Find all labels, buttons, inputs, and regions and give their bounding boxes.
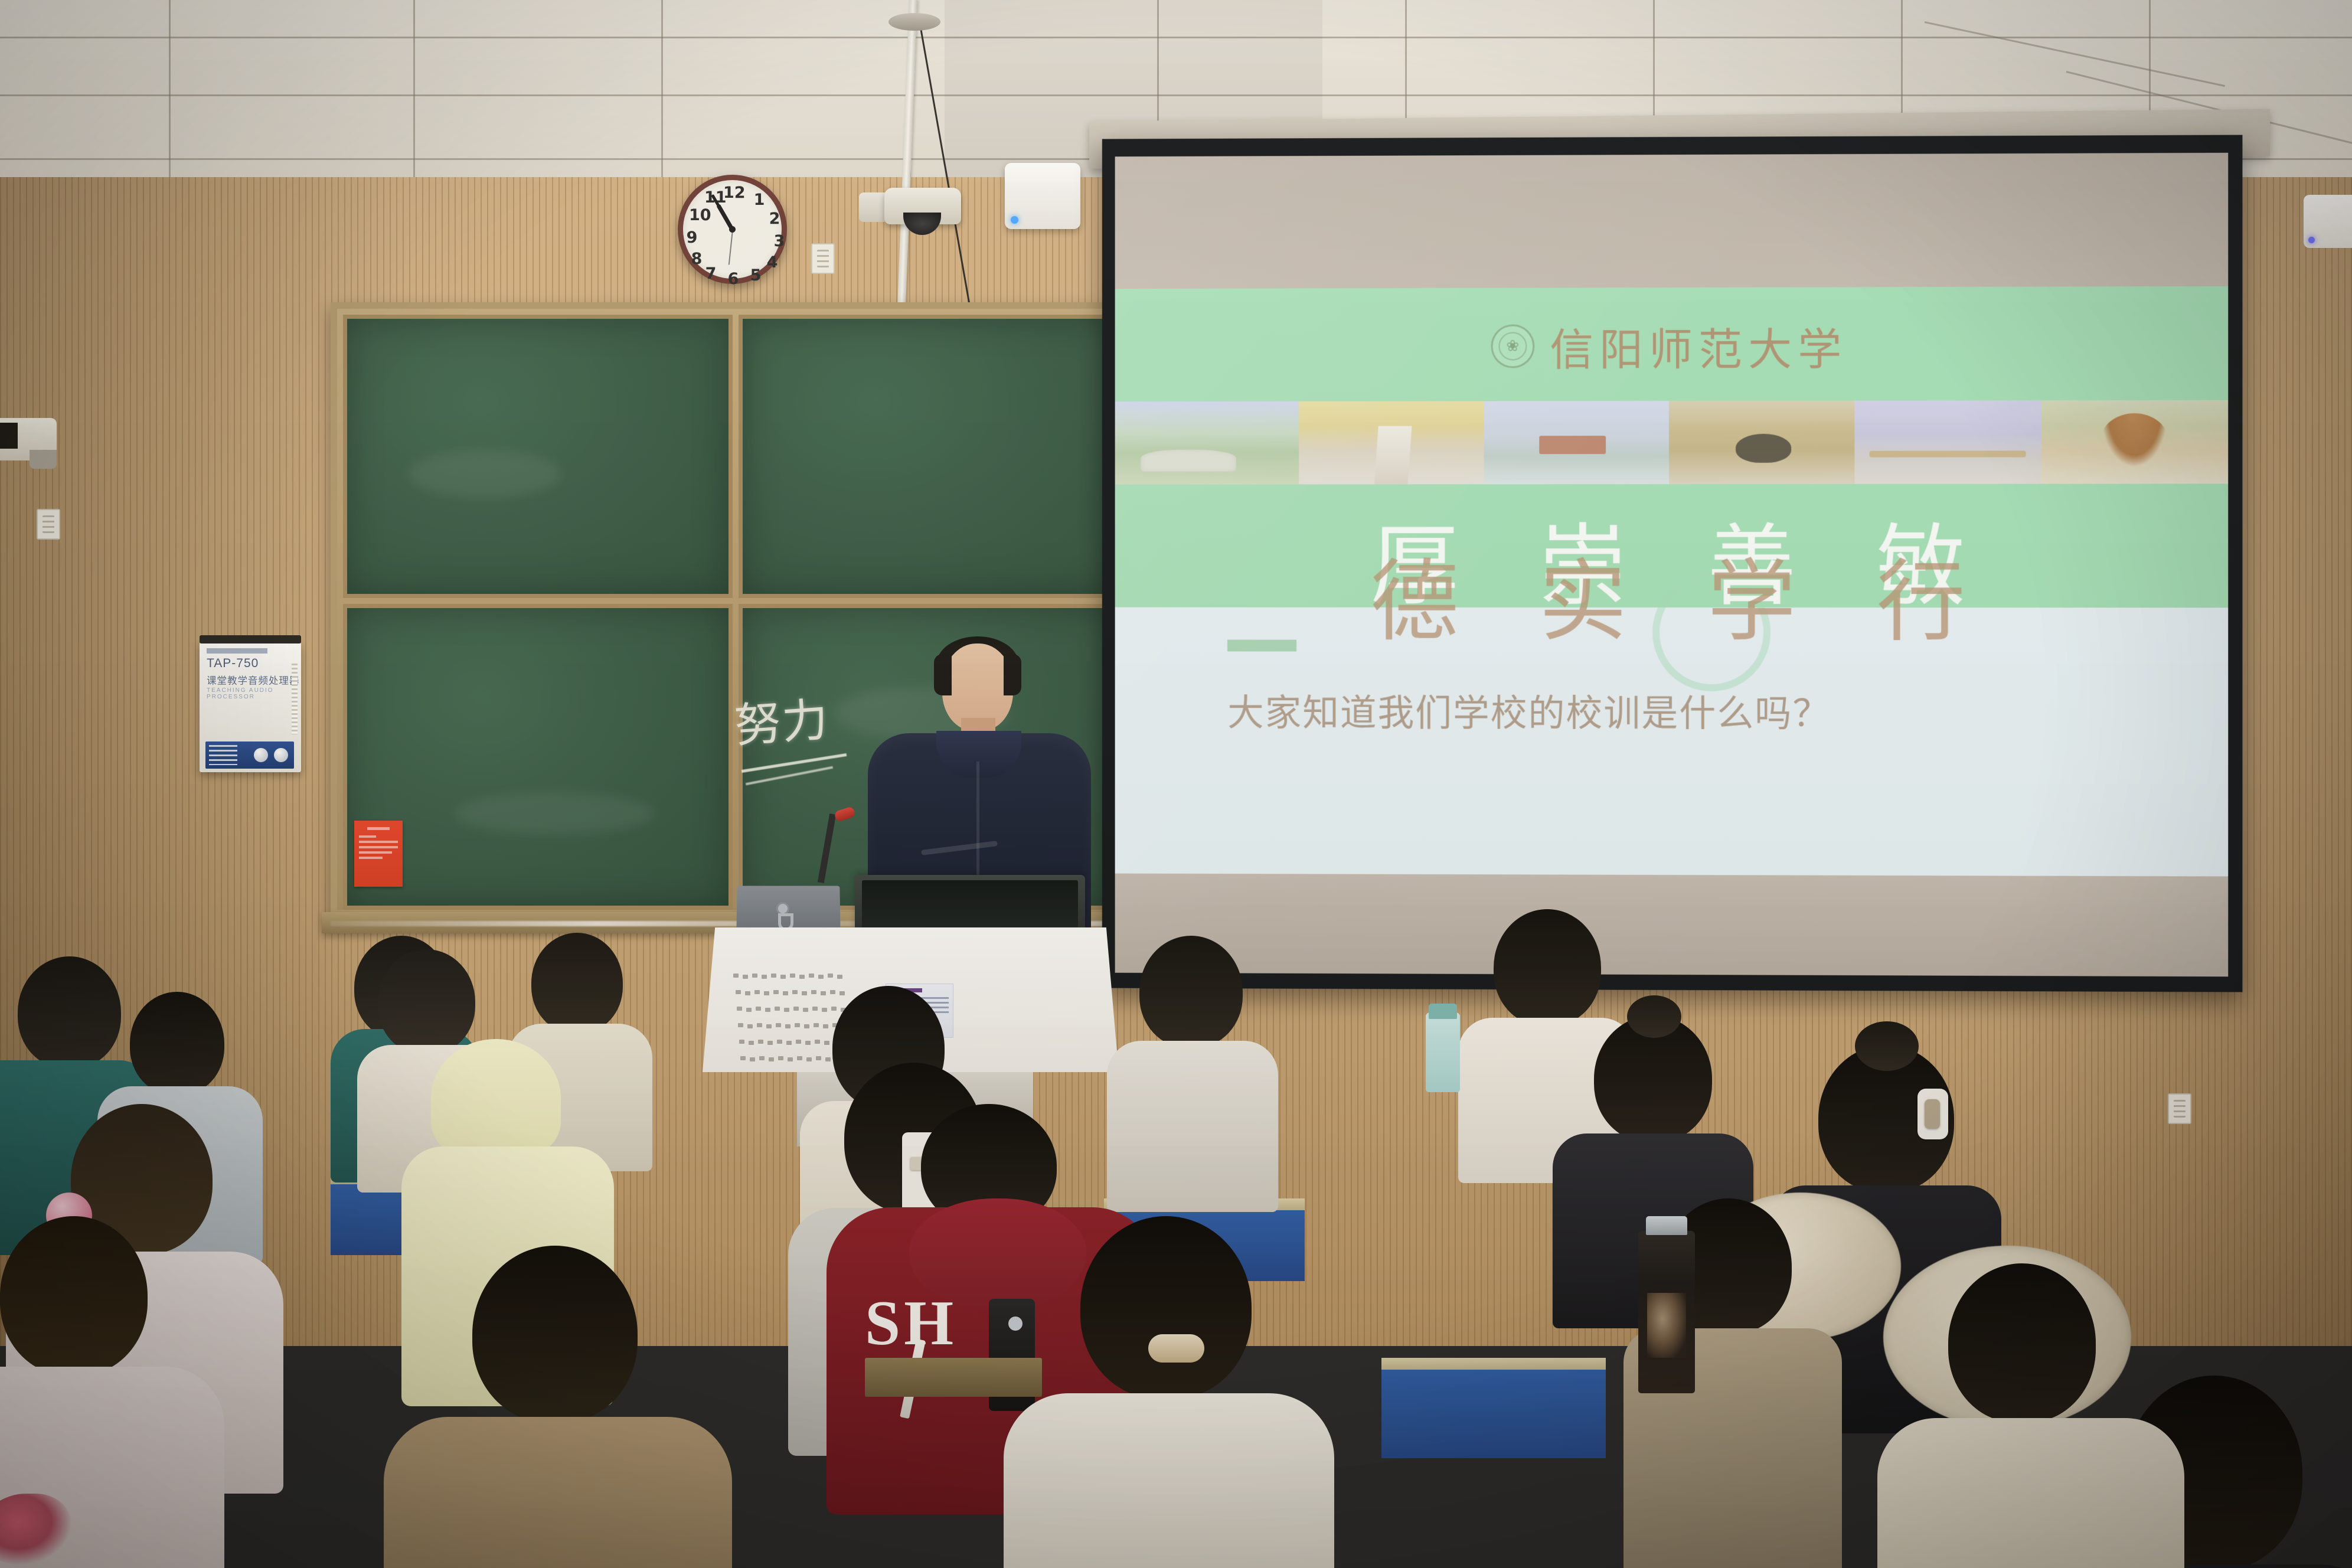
student-body bbox=[1107, 1041, 1278, 1212]
volume-knob-1-icon[interactable] bbox=[254, 748, 268, 762]
campus-photo bbox=[1299, 401, 1484, 485]
wall-outlet-left[interactable] bbox=[37, 509, 60, 540]
campus-photo bbox=[1115, 401, 1299, 485]
campus-photo bbox=[1855, 400, 2041, 484]
student-body bbox=[1004, 1393, 1334, 1568]
student-head bbox=[130, 992, 224, 1095]
student-head bbox=[531, 933, 623, 1033]
audio-processor-model: TAP-750 bbox=[207, 656, 259, 671]
wall-clock: 12 1 2 3 4 5 6 7 8 9 10 11 bbox=[678, 175, 787, 284]
clock-numeral: 3 bbox=[770, 232, 788, 250]
motto-char: 德 bbox=[1370, 531, 1462, 659]
student-hood bbox=[431, 1039, 561, 1157]
slide-question-text: 大家知道我们学校的校训是什么吗？ bbox=[1227, 683, 1830, 737]
desk-panel bbox=[1381, 1370, 1606, 1458]
wall-outlet-right[interactable] bbox=[2168, 1093, 2191, 1124]
student-head bbox=[1080, 1216, 1252, 1399]
campus-photo bbox=[1484, 401, 1669, 485]
motto-char: 学 bbox=[1707, 530, 1799, 658]
student-head bbox=[18, 956, 121, 1069]
desk-surface bbox=[1381, 1358, 1606, 1370]
student-head bbox=[1948, 1263, 2096, 1423]
clock-numeral: 1 bbox=[750, 191, 768, 209]
clock-numeral: 2 bbox=[766, 210, 783, 228]
clock-numeral: 6 bbox=[724, 270, 742, 288]
campus-photo-strip bbox=[1115, 400, 2229, 485]
presenter-hair-right bbox=[1004, 654, 1021, 695]
hair-claw-clip-inner bbox=[1925, 1099, 1940, 1129]
blackboard-notice-poster bbox=[354, 821, 403, 887]
blackboard-panel-top-right bbox=[739, 315, 1122, 598]
student-head bbox=[1494, 909, 1601, 1026]
thermos-graphic bbox=[1647, 1293, 1686, 1358]
audio-processor-label-cn: 课堂教学音频处理器 bbox=[207, 673, 299, 687]
seal-glyph: ❀ bbox=[1493, 326, 1533, 367]
motto-char: 行 bbox=[1877, 530, 1969, 659]
campus-photo bbox=[1669, 400, 1855, 484]
slide-university-header: ❀ 信阳师范大学 bbox=[1115, 313, 2229, 378]
student-head bbox=[472, 1246, 638, 1423]
question-accent-bar bbox=[1227, 640, 1296, 652]
projection-screen: ❀ 信阳师范大学 厚 崇 善 敏 bbox=[1102, 135, 2243, 992]
student-body bbox=[384, 1417, 732, 1568]
clock-numeral: 10 bbox=[689, 206, 707, 224]
phone-camera-icon bbox=[1008, 1317, 1023, 1331]
motto-char: 实 bbox=[1538, 530, 1631, 658]
university-seal-icon: ❀ bbox=[1491, 325, 1535, 368]
clock-numeral: 5 bbox=[747, 266, 765, 285]
blackboard-panel-top-left bbox=[343, 315, 733, 598]
red-hoodie-text-left: SH bbox=[865, 1287, 957, 1360]
water-bottle-cap bbox=[1429, 1004, 1457, 1019]
student-body bbox=[1877, 1418, 2184, 1568]
clock-second-hand bbox=[728, 229, 733, 264]
pole-ceiling-mount bbox=[888, 13, 940, 31]
wifi-access-point-icon bbox=[1005, 163, 1080, 229]
clock-numeral: 8 bbox=[688, 250, 705, 268]
audio-processor-unit[interactable]: TAP-750 课堂教学音频处理器 TEACHING AUDIO PROCESS… bbox=[200, 642, 301, 772]
student-head bbox=[1139, 936, 1243, 1048]
presenter-hair-left bbox=[934, 654, 952, 695]
wall-outlet-center[interactable] bbox=[811, 243, 835, 274]
notebook-stack[interactable] bbox=[865, 1358, 1042, 1397]
classroom-scene: TAP-750 课堂教学音频处理器 TEACHING AUDIO PROCESS… bbox=[0, 0, 2352, 1568]
wifi-access-point-right-icon bbox=[2304, 195, 2352, 248]
clock-center-pin bbox=[729, 226, 736, 233]
slide-top-band bbox=[1115, 153, 2229, 289]
audio-processor-control-panel[interactable] bbox=[205, 741, 294, 769]
student-hair-bun bbox=[1627, 995, 1681, 1038]
university-name: 信阳师范大学 bbox=[1550, 314, 1847, 378]
blackboard-chalk-text: 努力 bbox=[733, 695, 849, 759]
water-bottle[interactable] bbox=[1426, 1012, 1460, 1092]
thermos-cap bbox=[1646, 1216, 1687, 1235]
projected-slide: ❀ 信阳师范大学 厚 崇 善 敏 bbox=[1115, 153, 2229, 977]
clock-numeral: 9 bbox=[683, 228, 701, 247]
wall-speaker-bracket bbox=[30, 450, 57, 469]
student-head bbox=[0, 1216, 148, 1376]
student-head bbox=[378, 949, 475, 1054]
slide-bottom-band bbox=[1115, 873, 2229, 976]
campus-photo bbox=[2041, 400, 2228, 484]
student-hair-bun bbox=[1855, 1021, 1919, 1071]
student-hair-tie bbox=[1148, 1334, 1204, 1363]
audio-processor-brand bbox=[207, 648, 267, 654]
audio-processor-label-en: TEACHING AUDIO PROCESSOR bbox=[207, 687, 301, 700]
podium-monitor[interactable] bbox=[855, 875, 1085, 931]
clock-numeral: 4 bbox=[763, 253, 781, 272]
volume-knob-2-icon[interactable] bbox=[274, 748, 288, 762]
